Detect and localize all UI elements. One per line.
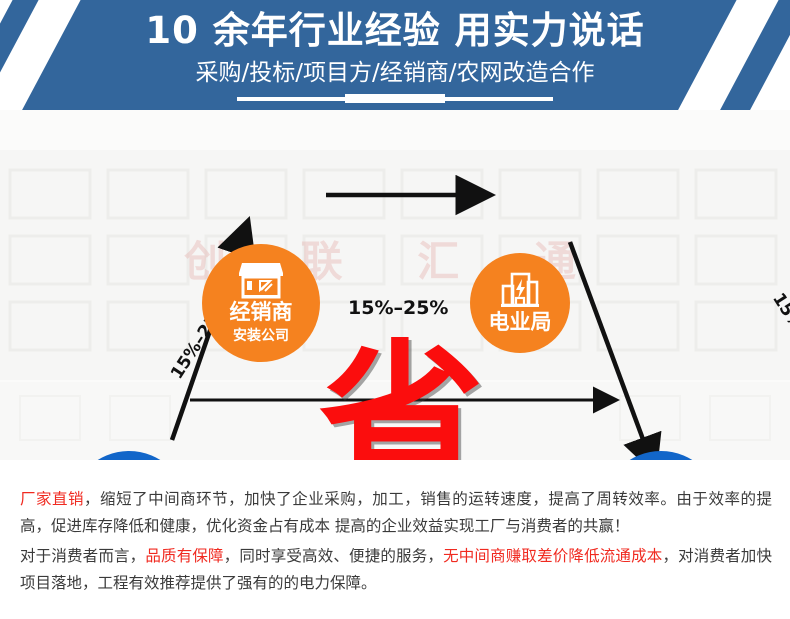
header-subtitle: 采购/投标/项目方/经销商/农网改造合作 bbox=[0, 58, 790, 88]
footer-paragraph-1: 厂家直销，缩短了中间商环节，加快了企业采购，加工，销售的运转速度，提高了周转效率… bbox=[20, 486, 772, 540]
header-divider-center bbox=[345, 94, 445, 103]
flow-diagram: 创 联 汇 通 省 15%–25% 15%–25% 15%–25% 在这里省了中… bbox=[0, 110, 790, 460]
arrow-bureau-to-consumer bbox=[570, 242, 644, 442]
node-dealer-sublabel: 安装公司 bbox=[233, 325, 289, 345]
header-title: 10 余年行业经验 用实力说话 bbox=[0, 8, 790, 54]
footer-highlight-no-middleman: 无中间商赚取差价降低流通成本 bbox=[443, 547, 662, 565]
footer-highlight-direct-sales: 厂家直销 bbox=[20, 490, 84, 508]
node-dealer[interactable]: 经销商 安装公司 bbox=[202, 244, 320, 362]
power-building-icon bbox=[500, 272, 540, 308]
arrow-label-dealer-to-bureau: 15%–25% bbox=[348, 297, 448, 319]
node-power-bureau[interactable]: 电业局 bbox=[470, 253, 570, 353]
footer-text-block: 厂家直销，缩短了中间商环节，加快了企业采购，加工，销售的运转速度，提高了周转效率… bbox=[0, 460, 790, 619]
footer-paragraph-2-lead: 对于消费者而言， bbox=[20, 547, 145, 565]
footer-highlight-quality: 品质有保障 bbox=[145, 547, 223, 565]
header-banner: 10 余年行业经验 用实力说话 采购/投标/项目方/经销商/农网改造合作 bbox=[0, 0, 790, 110]
node-dealer-label: 经销商 bbox=[230, 301, 293, 323]
center-save-character: 省 bbox=[319, 346, 484, 460]
footer-paragraph-2-mid: ，同时享受高效、便捷的服务， bbox=[224, 547, 443, 565]
footer-paragraph-2: 对于消费者而言，品质有保障，同时享受高效、便捷的服务，无中间商赚取差价降低流通成… bbox=[20, 543, 772, 597]
node-power-bureau-label: 电业局 bbox=[489, 311, 552, 333]
storefront-icon bbox=[238, 261, 284, 299]
footer-paragraph-1-rest: ，缩短了中间商环节，加快了企业采购，加工，销售的运转速度，提高了周转效率。由于效… bbox=[20, 490, 772, 535]
promo-banner: 10 余年行业经验 用实力说话 采购/投标/项目方/经销商/农网改造合作 bbox=[0, 0, 790, 619]
